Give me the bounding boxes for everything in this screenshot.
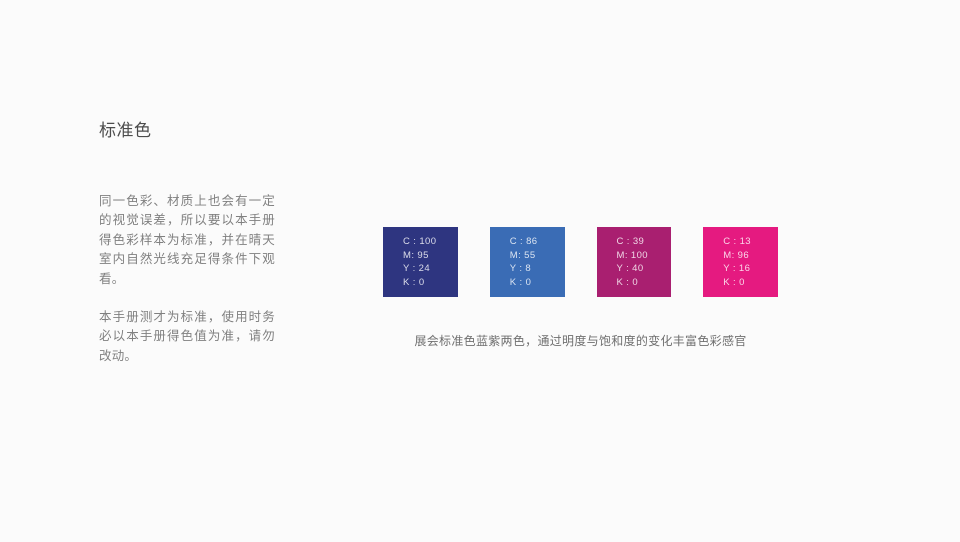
- cmyk-cyan-value: C : 39: [617, 235, 672, 249]
- cmyk-key-value: K : 0: [403, 276, 458, 290]
- cmyk-magenta-value: M: 100: [617, 249, 672, 263]
- cmyk-yellow-value: Y : 8: [510, 262, 565, 276]
- body-paragraph-1: 同一色彩、材质上也会有一定的视觉误差，所以要以本手册得色彩样本为标准，并在晴天室…: [99, 192, 275, 289]
- cmyk-magenta-value: M: 95: [403, 249, 458, 263]
- page-title: 标准色: [99, 120, 299, 142]
- color-swatch-area: C : 100 M: 95 Y : 24 K : 0 C : 86 M: 55 …: [383, 227, 778, 350]
- cmyk-cyan-value: C : 100: [403, 235, 458, 249]
- cmyk-yellow-value: Y : 40: [617, 262, 672, 276]
- color-swatch: C : 86 M: 55 Y : 8 K : 0: [490, 227, 565, 297]
- cmyk-magenta-value: M: 55: [510, 249, 565, 263]
- cmyk-key-value: K : 0: [723, 276, 778, 290]
- cmyk-magenta-value: M: 96: [723, 249, 778, 263]
- slide-canvas: 标准色 同一色彩、材质上也会有一定的视觉误差，所以要以本手册得色彩样本为标准，并…: [0, 0, 960, 542]
- cmyk-cyan-value: C : 86: [510, 235, 565, 249]
- body-paragraph-2: 本手册测才为标准，使用时务必以本手册得色值为准，请勿改动。: [99, 308, 275, 366]
- swatch-caption: 展会标准色蓝紫两色，通过明度与饱和度的变化丰富色彩感官: [383, 333, 778, 350]
- cmyk-cyan-value: C : 13: [723, 235, 778, 249]
- color-swatch: C : 100 M: 95 Y : 24 K : 0: [383, 227, 458, 297]
- left-text-column: 标准色 同一色彩、材质上也会有一定的视觉误差，所以要以本手册得色彩样本为标准，并…: [99, 120, 299, 366]
- color-swatch: C : 39 M: 100 Y : 40 K : 0: [597, 227, 672, 297]
- cmyk-yellow-value: Y : 24: [403, 262, 458, 276]
- color-swatch: C : 13 M: 96 Y : 16 K : 0: [703, 227, 778, 297]
- cmyk-yellow-value: Y : 16: [723, 262, 778, 276]
- cmyk-key-value: K : 0: [617, 276, 672, 290]
- cmyk-key-value: K : 0: [510, 276, 565, 290]
- body-text-block: 同一色彩、材质上也会有一定的视觉误差，所以要以本手册得色彩样本为标准，并在晴天室…: [99, 192, 299, 366]
- color-swatch-row: C : 100 M: 95 Y : 24 K : 0 C : 86 M: 55 …: [383, 227, 778, 297]
